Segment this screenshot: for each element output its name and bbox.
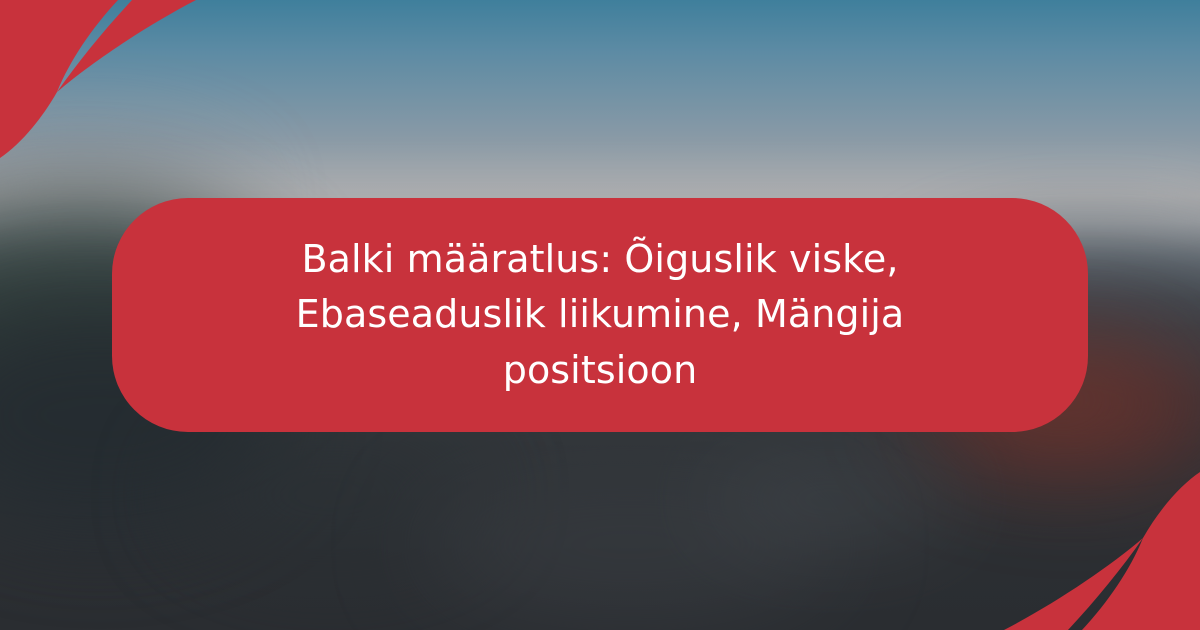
background-blur-blob xyxy=(700,455,960,545)
page-title: Balki määratlus: Õiguslik viske, Ebasead… xyxy=(205,232,995,397)
headline-card: Balki määratlus: Õiguslik viske, Ebasead… xyxy=(112,198,1088,432)
social-card-canvas: Balki määratlus: Õiguslik viske, Ebasead… xyxy=(0,0,1200,630)
